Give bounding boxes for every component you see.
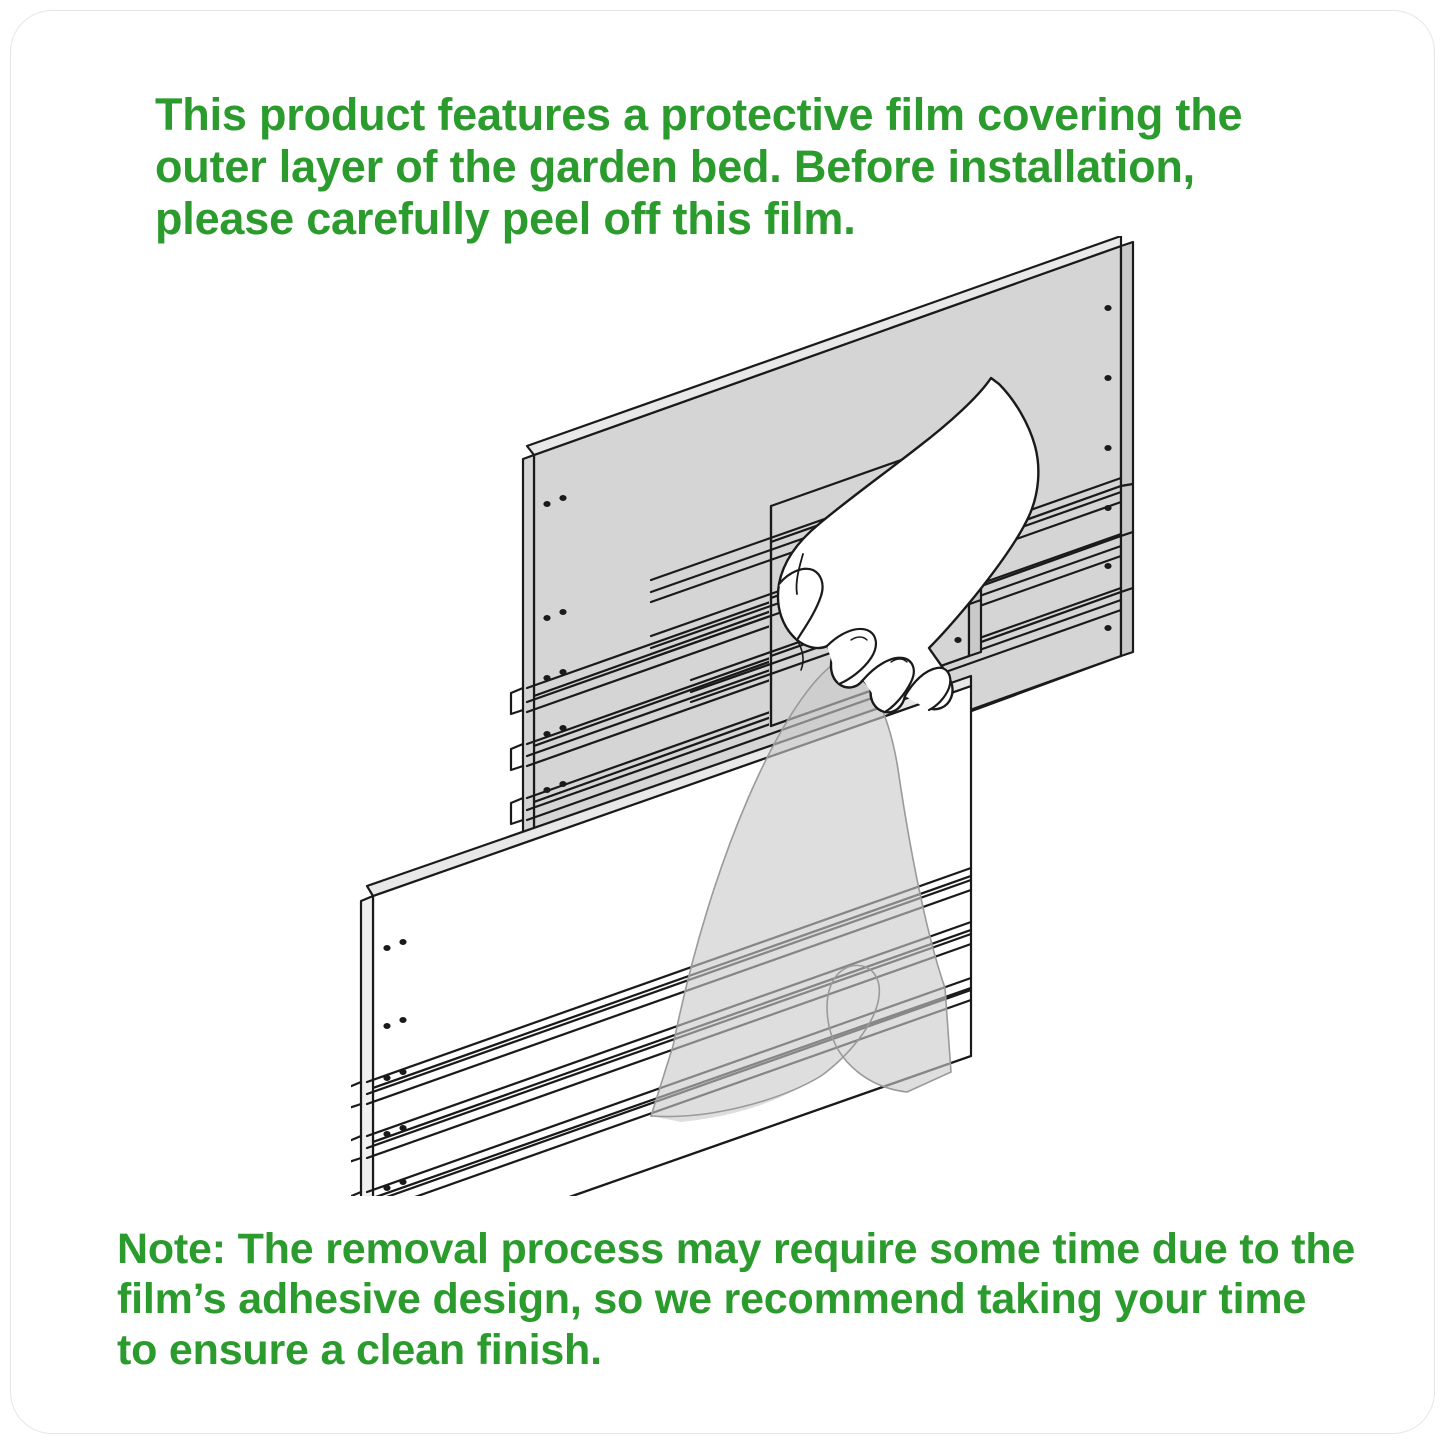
top-instruction-text: This product features a protective film … (155, 89, 1323, 244)
garden-bed-film-peel-illustration (351, 236, 1141, 1196)
bottom-note-text: Note: The removal process may require so… (117, 1224, 1357, 1375)
instruction-card: This product features a protective film … (10, 10, 1435, 1434)
